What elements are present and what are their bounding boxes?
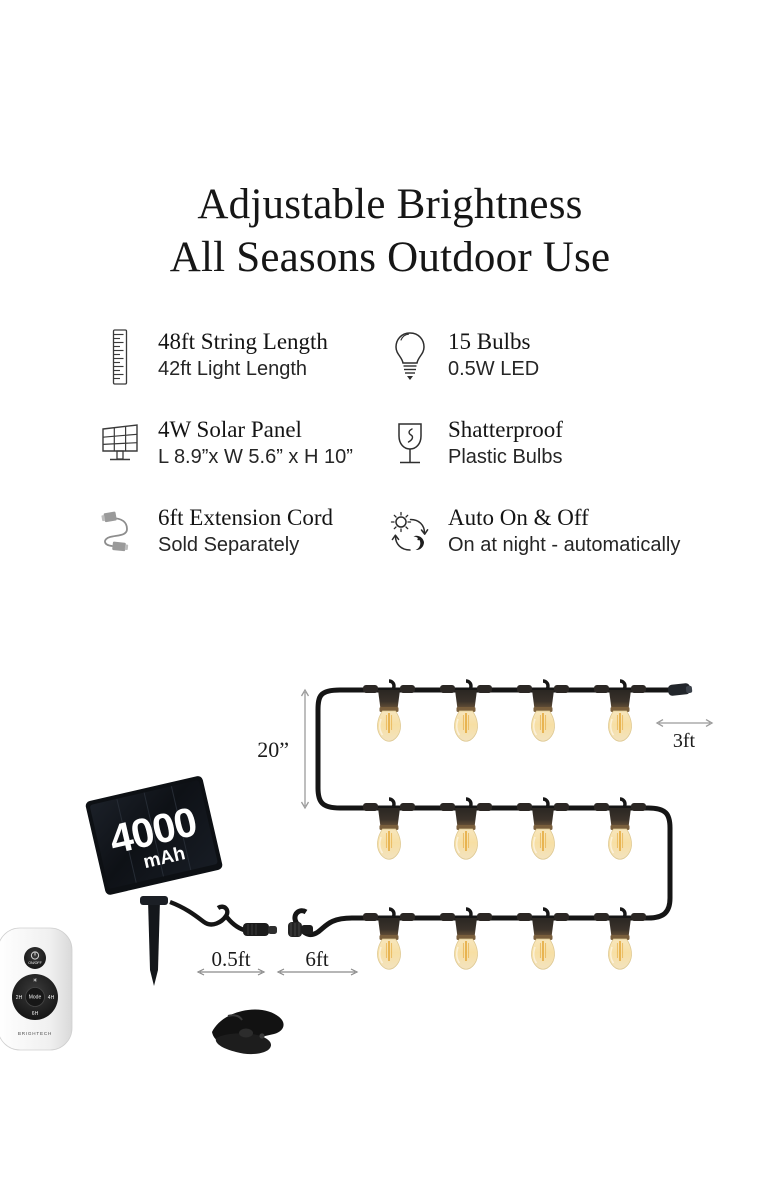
remote-6h-label: 6H bbox=[32, 1011, 39, 1017]
feature-text: Shatterproof Plastic Bulbs bbox=[448, 414, 563, 471]
sun-moon-cycle-icon bbox=[386, 502, 434, 564]
feature-secondary-label: 42ft Light Length bbox=[158, 358, 307, 380]
feature-secondary-label: On at night - automatically bbox=[448, 534, 680, 556]
remote-brightness-label: ☀ bbox=[33, 978, 38, 984]
headline-block: Adjustable Brightness All Seasons Outdoo… bbox=[0, 178, 780, 284]
feature-primary-label: Auto On & Off bbox=[448, 505, 589, 530]
dimension-connector-to-string-label: 6ft bbox=[305, 947, 328, 971]
feature-secondary-label: Plastic Bulbs bbox=[448, 446, 563, 468]
feature-primary-label: 48ft String Length bbox=[158, 329, 328, 354]
remote-control: ON/OFF Mode ☀ 2H 4H 6H BRIGHTECH bbox=[0, 928, 72, 1050]
feature-primary-label: 4W Solar Panel bbox=[158, 417, 302, 442]
dimension-lead-end: 3ft bbox=[657, 720, 712, 752]
feature-bulb-count: 15 Bulbs 0.5W LED bbox=[386, 326, 708, 414]
feature-text: 48ft String Length 42ft Light Length bbox=[158, 326, 328, 383]
dimension-connector-to-string: 6ft bbox=[278, 947, 357, 975]
dimension-lead-end-label: 3ft bbox=[673, 730, 696, 752]
feature-auto-on-off: Auto On & Off On at night - automaticall… bbox=[386, 502, 708, 590]
feature-text: Auto On & Off On at night - automaticall… bbox=[448, 502, 680, 559]
feature-solar-panel: 4W Solar Panel L 8.9”x W 5.6” x H 10” bbox=[96, 414, 386, 502]
dimension-drop-height: 20” bbox=[257, 690, 308, 808]
string-end-plug bbox=[668, 683, 693, 696]
ruler-icon bbox=[96, 326, 144, 388]
shatterproof-glass-icon bbox=[386, 414, 434, 476]
feature-extension-cord: 6ft Extension Cord Sold Separately bbox=[96, 502, 386, 590]
headline-line-2: All Seasons Outdoor Use bbox=[0, 231, 780, 284]
dimension-panel-to-connector: 0.5ft bbox=[198, 947, 264, 975]
panel-lead-cord bbox=[170, 902, 244, 930]
feature-secondary-label: 0.5W LED bbox=[448, 358, 539, 380]
feature-primary-label: 6ft Extension Cord bbox=[158, 505, 333, 530]
feature-text: 15 Bulbs 0.5W LED bbox=[448, 326, 539, 383]
solar-panel-product: 4000 mAh bbox=[85, 775, 224, 986]
feature-primary-label: Shatterproof bbox=[448, 417, 563, 442]
remote-power-label: ON/OFF bbox=[28, 961, 42, 965]
remote-4h-label: 4H bbox=[48, 995, 55, 1001]
remote-brand-label: BRIGHTECH bbox=[18, 1031, 52, 1036]
cord-connector-male bbox=[243, 923, 277, 936]
feature-text: 6ft Extension Cord Sold Separately bbox=[158, 502, 333, 559]
mounting-clip bbox=[212, 1009, 284, 1054]
dimension-panel-to-connector-label: 0.5ft bbox=[211, 947, 250, 971]
feature-secondary-label: Sold Separately bbox=[158, 534, 299, 556]
feature-primary-label: 15 Bulbs bbox=[448, 329, 530, 354]
solar-panel-icon bbox=[96, 414, 144, 476]
remote-mode-label: Mode bbox=[29, 995, 42, 1001]
feature-list: 48ft String Length 42ft Light Length 15 … bbox=[96, 326, 708, 590]
remote-2h-label: 2H bbox=[16, 995, 23, 1001]
feature-string-length: 48ft String Length 42ft Light Length bbox=[96, 326, 386, 414]
extension-cord-icon bbox=[96, 502, 144, 564]
product-diagram: 20” 3ft 4000 mAh bbox=[0, 640, 780, 1090]
feature-secondary-label: L 8.9”x W 5.6” x H 10” bbox=[158, 446, 353, 468]
feature-text: 4W Solar Panel L 8.9”x W 5.6” x H 10” bbox=[158, 414, 353, 471]
dimension-drop-height-label: 20” bbox=[257, 737, 289, 762]
headline-line-1: Adjustable Brightness bbox=[0, 178, 780, 231]
feature-shatterproof: Shatterproof Plastic Bulbs bbox=[386, 414, 708, 502]
light-bulb-icon bbox=[386, 326, 434, 388]
